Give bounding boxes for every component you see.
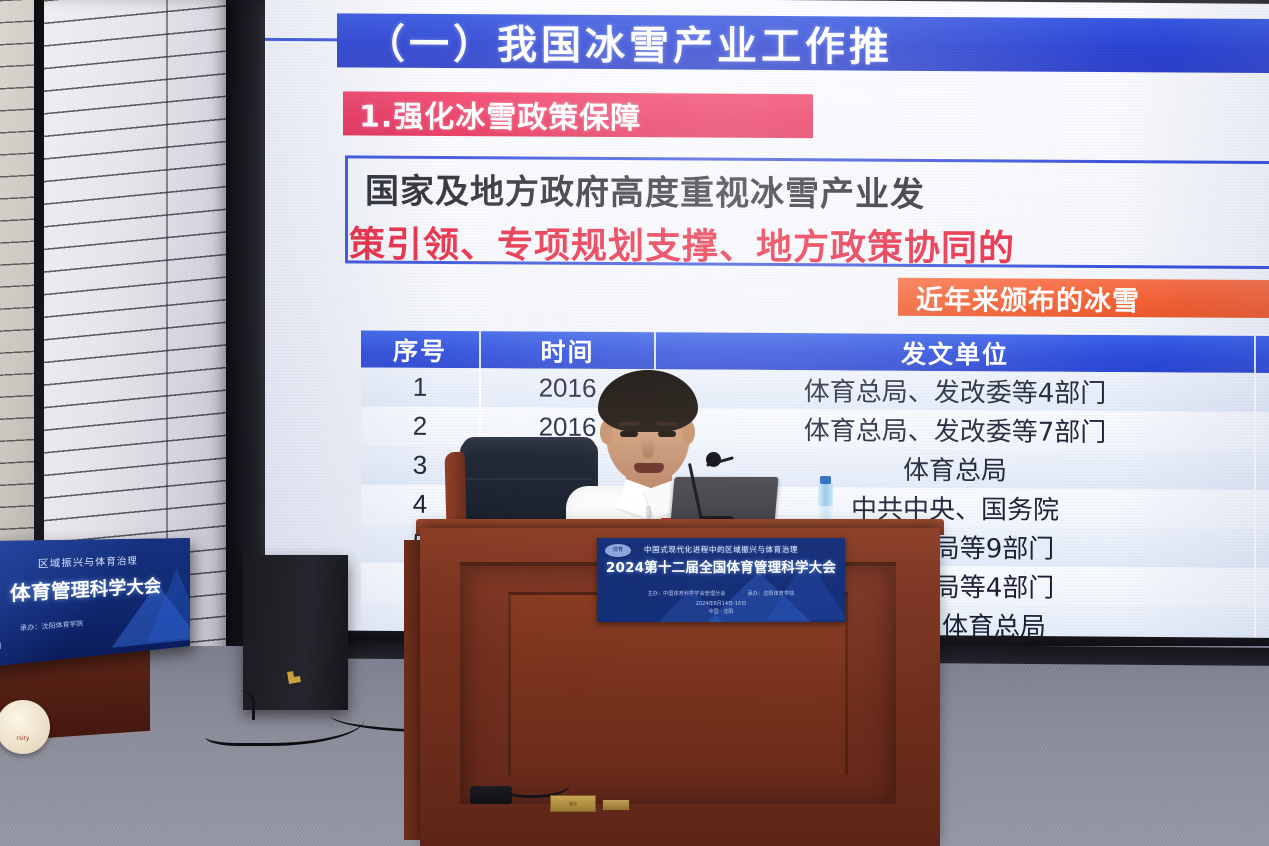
eye-right: [658, 431, 676, 437]
slide-callout-bar: 近年来颁布的冰雪: [898, 278, 1269, 319]
cell-document: [1256, 529, 1269, 569]
floor-brass-plate-secondary: [603, 800, 629, 810]
side-board-seal-text: rsity: [0, 736, 50, 742]
slide-table-header-row: 序号 时间 发文单位: [361, 330, 1269, 373]
water-bottle-label: [818, 506, 833, 520]
banner-location: 中国 · 沈阳: [597, 608, 845, 615]
microphone-capsule-icon: [706, 452, 721, 467]
conference-photo-scene: （一）我国冰雪产业工作推 1.强化冰雪政策保障 国家及地方政府高度重视冰雪产业发…: [0, 0, 1269, 846]
floor-brass-plate-text: 会议: [551, 796, 595, 811]
banner-subtitle: 中国式现代化进程中的区域振兴与体育治理: [597, 544, 845, 555]
slide-table-header-cell: 发文单位: [656, 332, 1256, 373]
slide-table-header-cell: 序号: [361, 330, 481, 368]
banner-host-label: 主办：中国体育科学学会管理分会: [648, 590, 726, 597]
cell-document: [1256, 568, 1269, 608]
slide-body-line2: 策引领、专项规划支撑、地方政策协同的: [349, 215, 1269, 273]
slide-table-header-cell: [1256, 336, 1269, 374]
cell-document: [1256, 373, 1269, 413]
eye-left: [620, 431, 638, 437]
hair: [598, 370, 698, 432]
slide-table-row: 1 2016 体育总局、发改委等4部门: [361, 367, 1269, 412]
loudspeaker-logo-icon: [287, 670, 301, 684]
floor-loudspeaker: [243, 555, 348, 710]
side-board-date: 日-16日: [0, 640, 2, 653]
title-rule-line: [265, 38, 345, 41]
cell-index: 2: [361, 406, 481, 446]
podium-conference-banner: 体育 中国式现代化进程中的区域振兴与体育治理 2024第十二届全国体育管理科学大…: [597, 538, 845, 622]
slide-title-bar: （一）我国冰雪产业工作推: [337, 13, 1269, 73]
slide-section-heading-text: 1.强化冰雪政策保障: [343, 91, 641, 137]
slide-title-text: （一）我国冰雪产业工作推: [337, 11, 893, 72]
mouth: [634, 463, 664, 473]
floor-cable: [500, 770, 570, 798]
cell-document: 《: [1256, 451, 1269, 491]
slide-table-header-cell: 时间: [481, 331, 656, 369]
banner-date: 2024年6月14日-16日: [597, 600, 845, 607]
banner-organizer-label: 承办：沈阳体育学院: [748, 590, 795, 597]
cell-index: 1: [361, 367, 481, 407]
banner-organizers: 主办：中国体育科学学会管理分会 承办：沈阳体育学院: [597, 590, 845, 597]
slide-body-line1: 国家及地方政府高度重视冰雪产业发: [365, 163, 1269, 218]
floor-brass-plate: 会议: [550, 795, 596, 812]
cell-document: 《关: [1256, 490, 1269, 530]
side-board-organizer: 承办：沈阳体育学院: [20, 618, 83, 633]
floor-cable: [215, 690, 255, 720]
slide-callout-text: 近年来颁布的冰雪: [898, 277, 1140, 317]
nose: [642, 438, 654, 458]
slide-section-heading-bar: 1.强化冰雪政策保障: [343, 91, 813, 138]
water-bottle-cap: [820, 476, 831, 484]
banner-title: 2024第十二届全国体育管理科学大会: [597, 556, 845, 576]
cell-document: [1256, 412, 1269, 452]
